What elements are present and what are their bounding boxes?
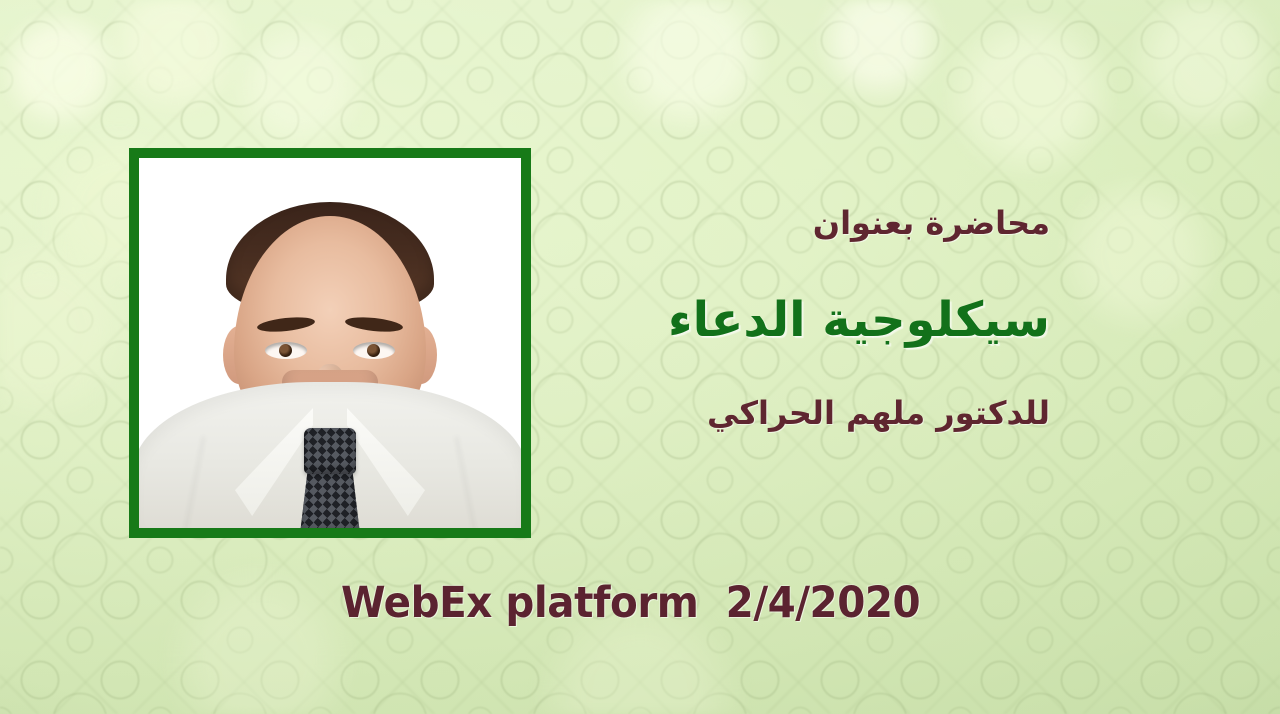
shirt-fold-right: [455, 437, 476, 528]
platform-and-date-line: WebEx platform 2/4/2020: [341, 578, 920, 628]
portrait-eye-left: [265, 342, 307, 359]
shirt-fold-left: [184, 437, 205, 528]
lecture-title: سيكلوجية الدعاء: [490, 294, 1050, 348]
speaker-photo: [139, 158, 521, 528]
lecture-presenter: للدكتور ملهم الحراكي: [490, 396, 1050, 432]
speaker-photo-frame: [129, 148, 531, 538]
portrait-necktie-knot: [304, 428, 356, 474]
title-text-block: محاضرة بعنوان سيكلوجية الدعاء للدكتور مل…: [490, 206, 1050, 431]
portrait-eye-right: [353, 342, 395, 359]
lecture-kicker: محاضرة بعنوان: [490, 206, 1050, 242]
presentation-title-slide: محاضرة بعنوان سيكلوجية الدعاء للدكتور مل…: [0, 0, 1280, 714]
